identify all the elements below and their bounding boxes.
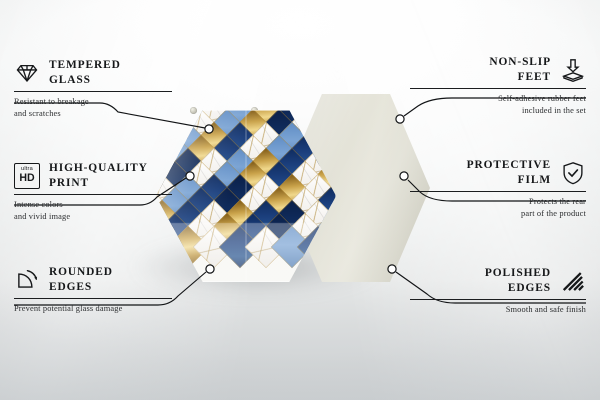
diamond-icon (14, 60, 40, 86)
feature-title: NON-SLIP FEET (489, 55, 551, 84)
feature-header: ROUNDED EDGES (14, 265, 172, 294)
feature-title: PROTECTIVE FILM (467, 158, 551, 187)
feature-title: HIGH-QUALITY PRINT (49, 161, 148, 190)
feature-description: Self-adhesive rubber feet included in th… (410, 93, 586, 117)
feature-high-quality-print: ultra HD HIGH-QUALITY PRINT Intense colo… (14, 161, 172, 223)
rounded-corner-icon (14, 267, 40, 293)
rubber-foot (190, 107, 197, 114)
feature-header: NON-SLIP FEET (410, 55, 586, 84)
feature-rounded-edges: ROUNDED EDGES Prevent potential glass da… (14, 265, 172, 315)
press-pad-icon (560, 57, 586, 83)
feature-protective-film: PROTECTIVE FILM Protects the rear part o… (410, 158, 586, 220)
feature-divider (410, 299, 586, 300)
feature-tempered-glass: TEMPERED GLASS Resistant to breakage and… (14, 58, 172, 120)
feature-description: Prevent potential glass damage (14, 303, 172, 315)
feature-header: POLISHED EDGES (410, 266, 586, 295)
pattern-diamond (156, 122, 157, 164)
feature-divider (410, 191, 586, 192)
feature-header: ultra HD HIGH-QUALITY PRINT (14, 161, 172, 190)
feature-divider (14, 298, 172, 299)
feature-description: Protects the rear part of the product (410, 196, 586, 220)
feature-polished-edges: POLISHED EDGES Smooth and safe finish (410, 266, 586, 316)
feature-description: Smooth and safe finish (410, 304, 586, 316)
product-image (150, 88, 450, 308)
feature-divider (14, 91, 172, 92)
feature-non-slip-feet: NON-SLIP FEET Self-adhesive rubber feet … (410, 55, 586, 117)
feature-header: TEMPERED GLASS (14, 58, 172, 87)
feature-title: ROUNDED EDGES (49, 265, 113, 294)
shield-check-icon (560, 160, 586, 186)
feature-description: Resistant to breakage and scratches (14, 96, 172, 120)
ultra-hd-badge-icon: ultra HD (14, 163, 40, 189)
feature-divider (410, 88, 586, 89)
infographic-canvas: TEMPERED GLASS Resistant to breakage and… (0, 0, 600, 400)
feature-description: Intense colors and vivid image (14, 199, 172, 223)
diagonal-stripes-icon (560, 268, 586, 294)
feature-header: PROTECTIVE FILM (410, 158, 586, 187)
feature-title: POLISHED EDGES (485, 266, 551, 295)
feature-title: TEMPERED GLASS (49, 58, 121, 87)
feature-divider (14, 194, 172, 195)
